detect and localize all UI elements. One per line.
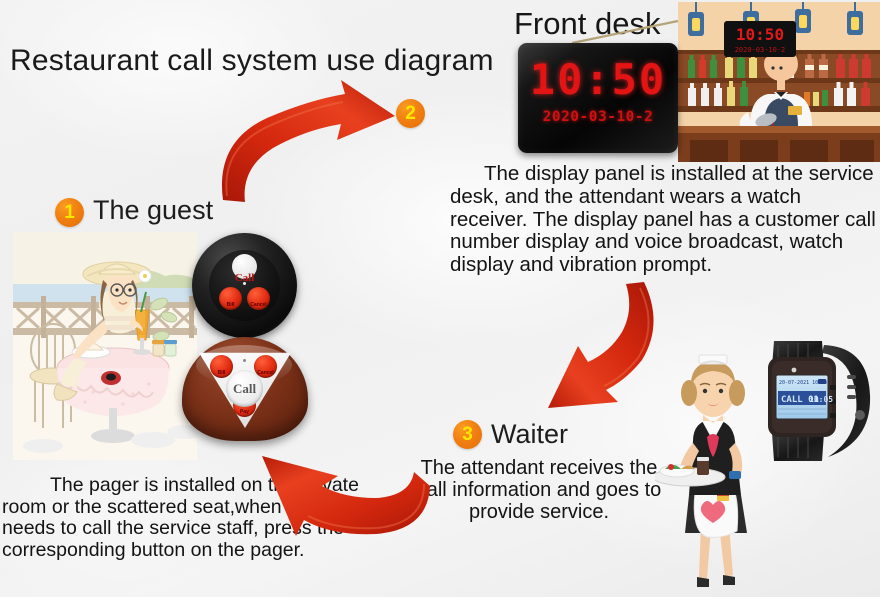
flow-arrow-1 [205,78,410,206]
bar-scene-svg: 10:50 2020-03-10-2 [678,2,880,162]
round-pager-face: Call Bill Cancel [209,250,280,321]
step-1-badge: 1 [55,198,84,227]
step-2-description: The display panel is installed at the se… [450,163,880,277]
watch-svg: 20-07-2021 10:50 CALL 01 10:05 [752,337,880,465]
triangle-pager-bill-button[interactable]: Bill [210,355,233,378]
round-pager[interactable]: Call Bill Cancel [192,233,297,338]
watch-receiver: 20-07-2021 10:50 CALL 01 10:05 [752,337,880,465]
panel-body: 10:50 2020-03-10-2 [518,43,678,153]
flow-arrow-3 [252,432,437,544]
round-pager-cancel-button[interactable]: Cancel [247,287,270,310]
bar-mini-display-time: 10:50 [736,25,784,44]
watch-time-line: 10:05 [809,395,833,404]
triangle-pager[interactable]: Bill Cancel Pay Call [182,337,308,445]
led-display-panel: 10:50 2020-03-10-2 [518,43,678,153]
flow-arrow-2 [522,282,697,414]
panel-date: 2020-03-10-2 [518,109,678,125]
guest-scene-svg [13,232,197,460]
step-1-label: The guest [93,195,213,226]
triangle-pager-call-button[interactable]: Call [226,370,263,407]
panel-antenna-icon [570,19,682,45]
step-3-label: Waiter [491,419,568,450]
step-3-badge: 3 [453,420,482,449]
page-title: Restaurant call system use diagram [10,44,494,78]
bar-mini-display-date: 2020-03-10-2 [735,46,786,54]
triangle-pager-led-icon [243,359,246,362]
panel-time: 10:50 [518,55,678,104]
round-pager-bill-button[interactable]: Bill [219,287,242,310]
step-3-description: The attendant receives the call informat… [405,457,673,524]
guest-scene-illustration [13,232,197,460]
diagram-canvas: Restaurant call system use diagram Front… [0,0,880,597]
round-pager-led-icon [243,282,246,285]
bar-scene-illustration: 10:50 2020-03-10-2 [678,2,880,162]
